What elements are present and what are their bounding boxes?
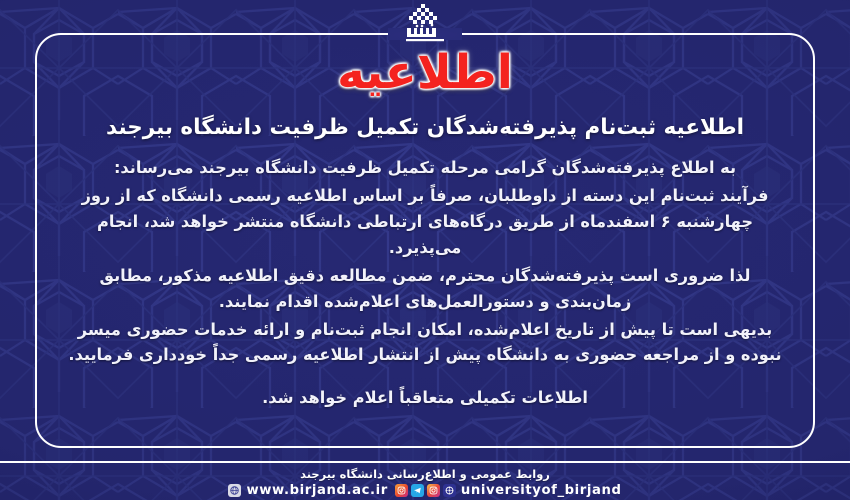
- page-title: اطلاعیه: [337, 49, 513, 96]
- website-link[interactable]: www.birjand.ac.ir: [228, 483, 387, 498]
- paragraph: بدیهی است تا پیش از تاریخ اعلام‌شده، امک…: [61, 317, 789, 369]
- announcement-poster: اطلاعیه اطلاعیه ثبت‌نام پذیرفته‌شدگان تک…: [0, 0, 850, 500]
- website-url: www.birjand.ac.ir: [246, 483, 387, 498]
- poster-subtitle: اطلاعیه ثبت‌نام پذیرفته‌شدگان تکمیل ظرفی…: [106, 113, 744, 142]
- globe-icon: [228, 484, 241, 497]
- poster-footer: روابط عمومی و اطلاع‌رسانی دانشگاه بیرجند…: [0, 463, 850, 500]
- announcement-body: به اطلاع پذیرفته‌شدگان گرامی مرحله تکمیل…: [61, 155, 789, 368]
- paragraph: لذا ضروری است پذیرفته‌شدگان محترم، ضمن م…: [61, 263, 789, 315]
- footer-contact-links: www.birjand.ac.ir: [228, 483, 621, 498]
- paragraph: به اطلاع پذیرفته‌شدگان گرامی مرحله تکمیل…: [61, 155, 789, 181]
- public-relations-label: روابط عمومی و اطلاع‌رسانی دانشگاه بیرجند: [300, 467, 550, 481]
- aparat-icon[interactable]: [443, 484, 456, 497]
- social-handle: universityof_birjand: [461, 483, 622, 498]
- instagram-icon[interactable]: [395, 484, 408, 497]
- poster-content: اطلاعیه اطلاعیه ثبت‌نام پذیرفته‌شدگان تک…: [35, 33, 815, 448]
- social-links[interactable]: universityof_birjand: [395, 483, 622, 498]
- birjand-university-emblem: [387, 2, 463, 46]
- instagram-icon[interactable]: [427, 484, 440, 497]
- closing-note: اطلاعات تکمیلی متعاقباً اعلام خواهد شد.: [262, 388, 588, 407]
- telegram-icon[interactable]: [411, 484, 424, 497]
- paragraph: فرآیند ثبت‌نام این دسته از داوطلبان، صرف…: [61, 183, 789, 261]
- social-icon-set: [395, 484, 456, 497]
